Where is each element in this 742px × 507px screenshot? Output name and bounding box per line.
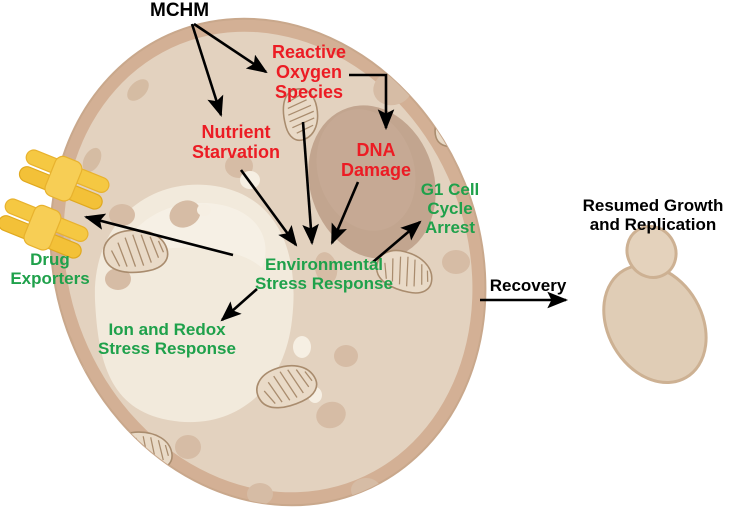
recovered-yeast-cell: [568, 217, 736, 402]
mitochondrion: [431, 86, 485, 152]
diagram-canvas: MCHM Reactive Oxygen Species Nutrient St…: [0, 0, 742, 507]
cell-diagram-svg: [0, 0, 742, 507]
stressed-yeast-cell: [0, 0, 557, 507]
